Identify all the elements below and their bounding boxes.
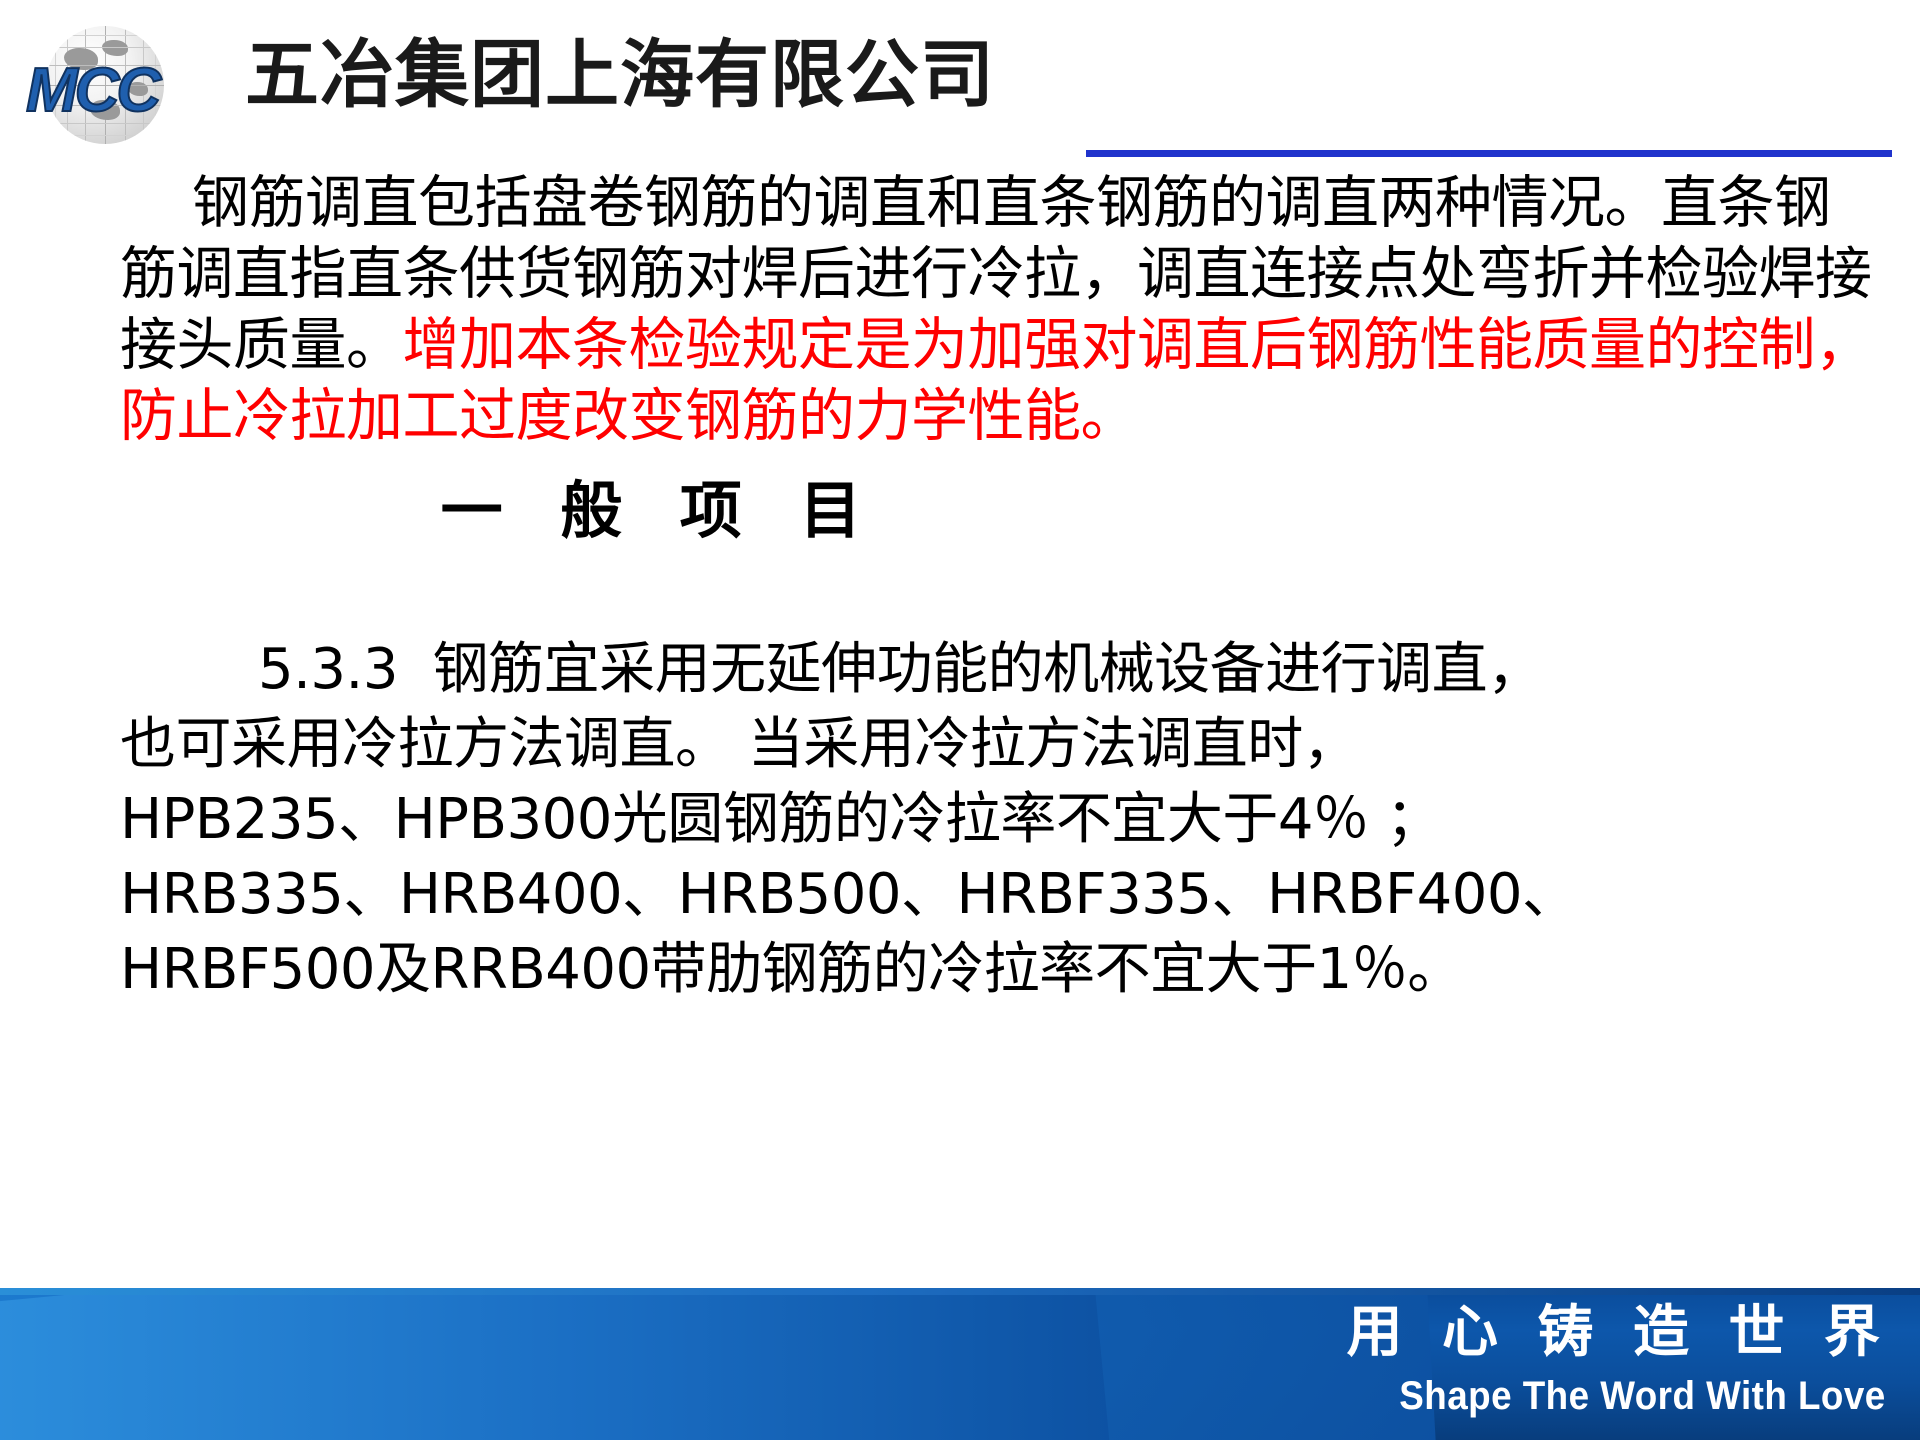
footer-slogan-chinese: 用 心 铸 造 世 界 xyxy=(1347,1304,1890,1363)
slide-header: MCC 五冶集团上海有限公司 xyxy=(0,0,1920,170)
footer-wave-lower xyxy=(0,1288,1115,1440)
content-spacer xyxy=(0,550,1920,632)
section-heading-general-items: 一 般 项 目 xyxy=(0,460,1920,550)
company-logo: MCC xyxy=(20,22,230,142)
paragraph-1: 钢筋调直包括盘卷钢筋的调直和直条钢筋的调直两种情况。直条钢筋调直指直条供货钢筋对… xyxy=(0,168,1920,452)
header-divider-line xyxy=(1086,150,1892,157)
footer-top-highlight xyxy=(0,1288,1920,1295)
company-name: 五冶集团上海有限公司 xyxy=(245,38,995,112)
paragraph-2: 5.3.3 钢筋宜采用无延伸功能的机械设备进行调直， 也可采用冷拉方法调直。 当… xyxy=(0,632,1920,1007)
mcc-logotype: MCC xyxy=(26,60,158,122)
slide-content: 钢筋调直包括盘卷钢筋的调直和直条钢筋的调直两种情况。直条钢筋调直指直条供货钢筋对… xyxy=(0,168,1920,1007)
paragraph-2-text: 5.3.3 钢筋宜采用无延伸功能的机械设备进行调直， 也可采用冷拉方法调直。 当… xyxy=(120,637,1578,1002)
slide-footer: 用 心 铸 造 世 界 Shape The Word With Love xyxy=(0,1288,1920,1440)
footer-slogan-english: Shape The Word With Love xyxy=(1400,1374,1886,1419)
